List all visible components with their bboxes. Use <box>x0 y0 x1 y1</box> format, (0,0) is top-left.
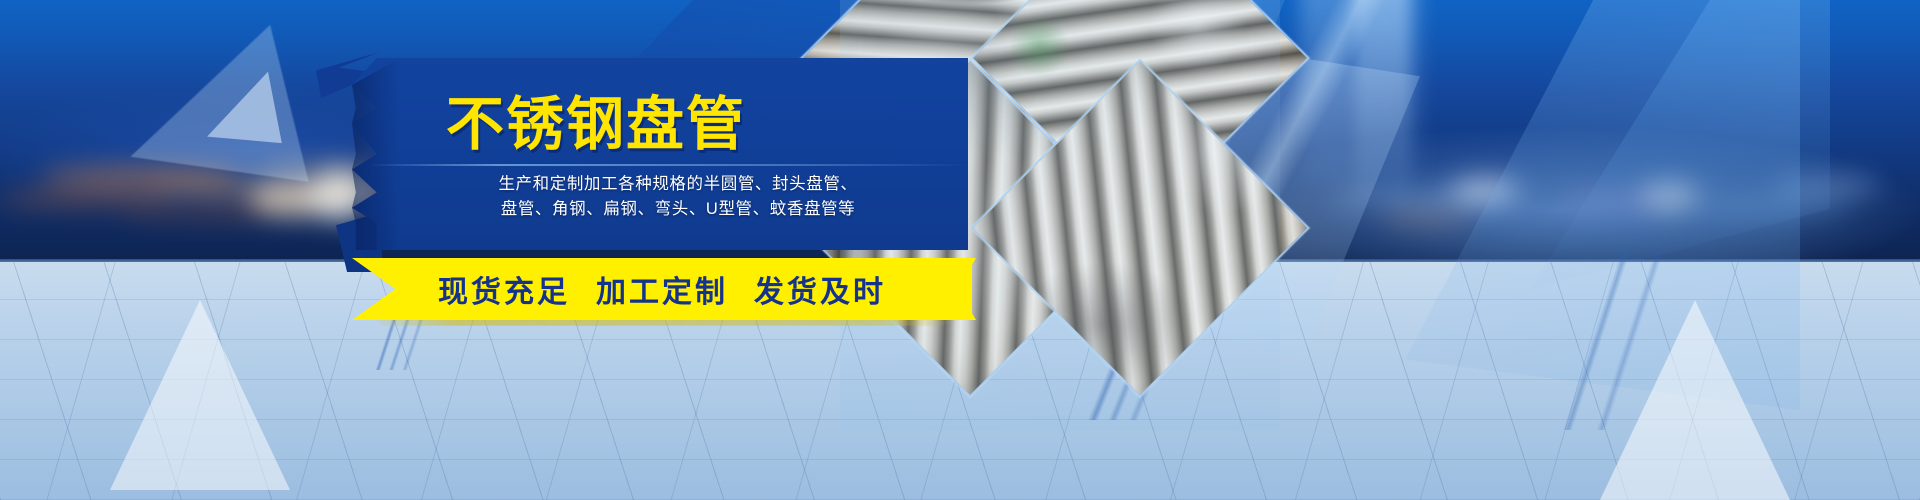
headline-panel-notch <box>352 58 400 250</box>
ribbon-item-0: 现货充足 <box>438 267 570 311</box>
promo-banner: 不锈钢盘管 生产和定制加工各种规格的半圆管、封头盘管、 盘管、角钢、扁钢、弯头、… <box>0 0 1920 500</box>
subtitle-line-1: 生产和定制加工各种规格的半圆管、封头盘管、 <box>398 172 958 197</box>
subtitle-block: 生产和定制加工各种规格的半圆管、封头盘管、 盘管、角钢、扁钢、弯头、U型管、蚊香… <box>398 172 958 222</box>
ribbon-item-1: 加工定制 <box>596 267 728 311</box>
ribbon-item-2: 发货及时 <box>754 267 886 311</box>
feature-ribbon-text: 现货充足 加工定制 发货及时 <box>352 258 972 320</box>
headline-panel-divider <box>368 164 966 166</box>
page-title: 不锈钢盘管 <box>446 96 746 154</box>
subtitle-line-2: 盘管、角钢、扁钢、弯头、U型管、蚊香盘管等 <box>398 197 958 222</box>
